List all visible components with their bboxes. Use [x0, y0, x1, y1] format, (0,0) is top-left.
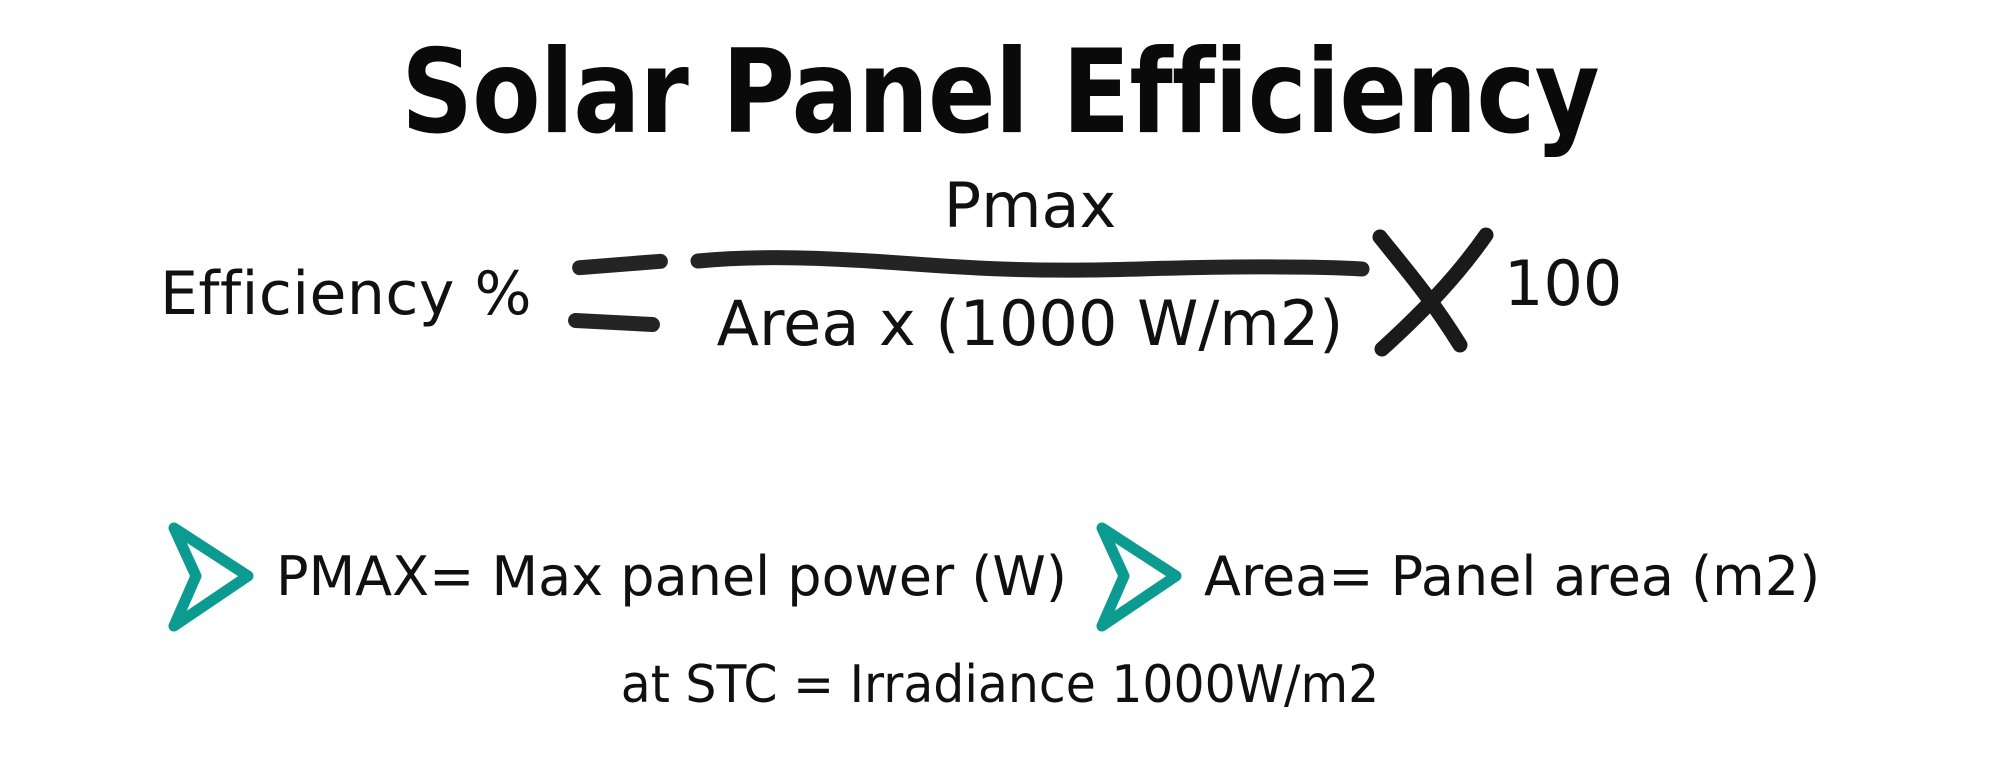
fraction-bar-icon	[690, 249, 1370, 283]
efficiency-formula: Efficiency % Pmax Area x (1000 W/m2) 100	[0, 175, 2000, 385]
fraction-denominator: Area x (1000 W/m2)	[690, 285, 1370, 355]
infographic-canvas: Solar Panel Efficiency Efficiency % Pmax…	[0, 0, 2000, 761]
fraction-numerator: Pmax	[690, 175, 1370, 247]
equals-stroke-top	[572, 253, 669, 275]
legend-item-label: Area= Panel area (m2)	[1204, 550, 1820, 604]
legend-item-label: PMAX= Max panel power (W)	[276, 550, 1067, 604]
teal-arrow-icon	[1088, 518, 1188, 636]
multiply-x-icon	[1368, 227, 1498, 357]
legend-item-area: Area= Panel area (m2)	[1088, 518, 1820, 636]
page-title: Solar Panel Efficiency	[140, 28, 1860, 158]
formula-left-label: Efficiency %	[160, 259, 532, 329]
equals-sign-icon	[566, 255, 674, 345]
formula-fraction: Pmax Area x (1000 W/m2)	[690, 175, 1370, 355]
teal-arrow-icon	[160, 518, 260, 636]
legend-item-pmax: PMAX= Max panel power (W)	[160, 518, 1067, 636]
footnote-text: at STC = Irradiance 1000W/m2	[60, 655, 1940, 715]
formula-multiplier: 100	[1504, 247, 1622, 320]
equals-stroke-bottom	[568, 313, 661, 333]
legend-row: PMAX= Max panel power (W) Area= Panel ar…	[0, 510, 2000, 640]
